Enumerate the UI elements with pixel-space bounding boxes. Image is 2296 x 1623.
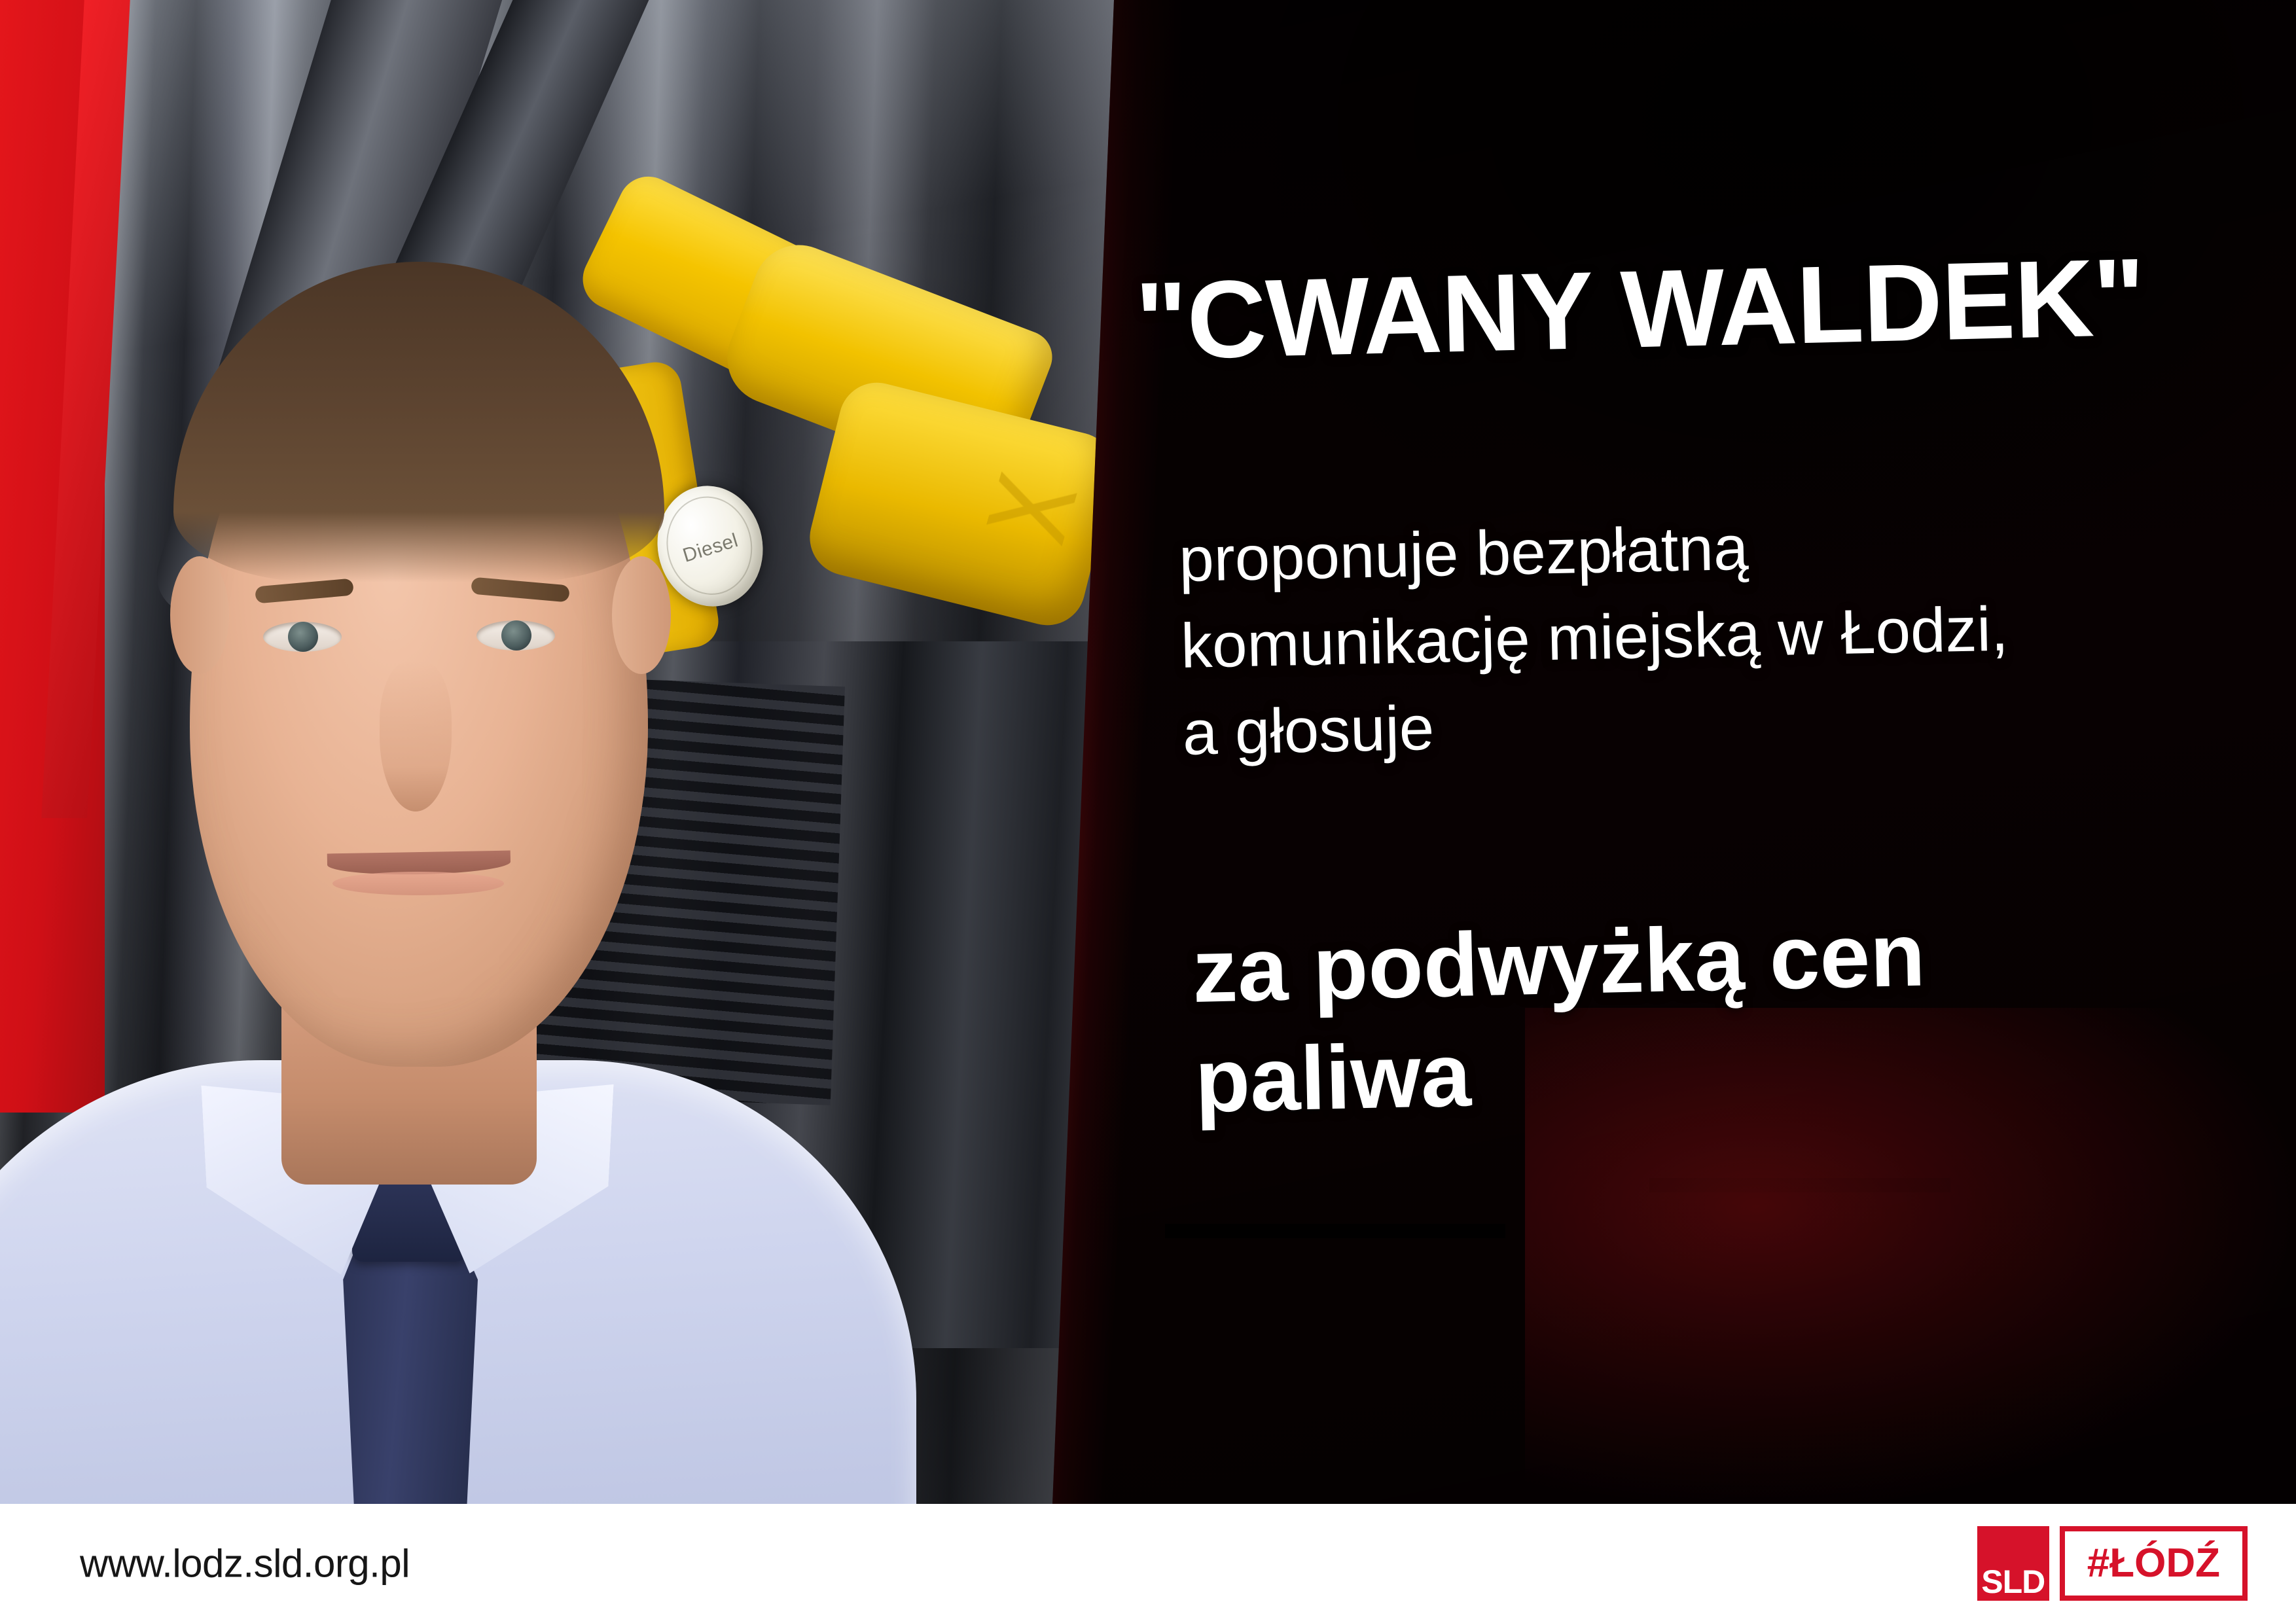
portrait-ear-left [170, 556, 229, 674]
portrait-iris-left [288, 622, 318, 652]
lodz-hashtag-text: #ŁÓDŹ [2087, 1543, 2220, 1584]
sld-logo[interactable]: SLD [1977, 1526, 2049, 1601]
poster-emphasis-copy: za podwyżką cen paliwa [1191, 891, 2295, 1137]
campaign-poster: Diesel [0, 0, 2296, 1623]
footer-logos: SLD #ŁÓDŹ [1977, 1526, 2248, 1601]
portrait-hair [173, 262, 664, 582]
portrait-nose [380, 661, 452, 811]
candidate-portrait [0, 98, 707, 1504]
sld-logo-text: SLD [1977, 1565, 2049, 1598]
website-url[interactable]: www.lodz.sld.org.pl [80, 1541, 410, 1586]
portrait-ear-right [612, 556, 671, 674]
portrait-iris-right [501, 620, 531, 651]
lodz-hashtag-logo[interactable]: #ŁÓDŹ [2060, 1526, 2248, 1601]
poster-footer: www.lodz.sld.org.pl SLD #ŁÓDŹ [0, 1504, 2296, 1623]
poster-headline: "CWANY WALDEK" [1134, 234, 2146, 385]
poster-stage: Diesel [0, 0, 2296, 1504]
poster-body-copy: proponuje bezpłatną komunikację miejską … [1178, 493, 2296, 777]
portrait-lower-lip [332, 872, 504, 895]
